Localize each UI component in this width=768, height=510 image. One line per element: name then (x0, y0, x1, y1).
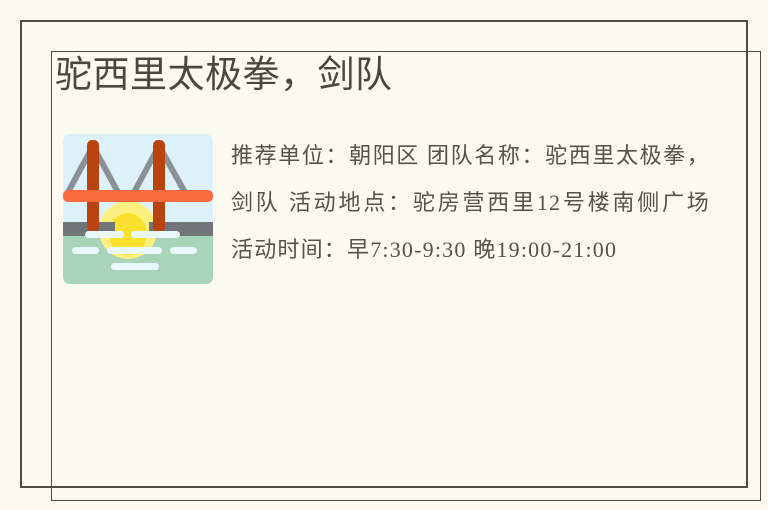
page-title: 驼西里太极拳，剑队 (55, 48, 710, 102)
card-content: 驼西里太极拳，剑队 (0, 0, 768, 510)
bridge-sunset-icon (63, 134, 213, 284)
detail-body: 推荐单位：朝阳区 团队名称：驼西里太极拳，剑队 活动地点：驼房营西里12号楼南侧… (55, 124, 710, 394)
